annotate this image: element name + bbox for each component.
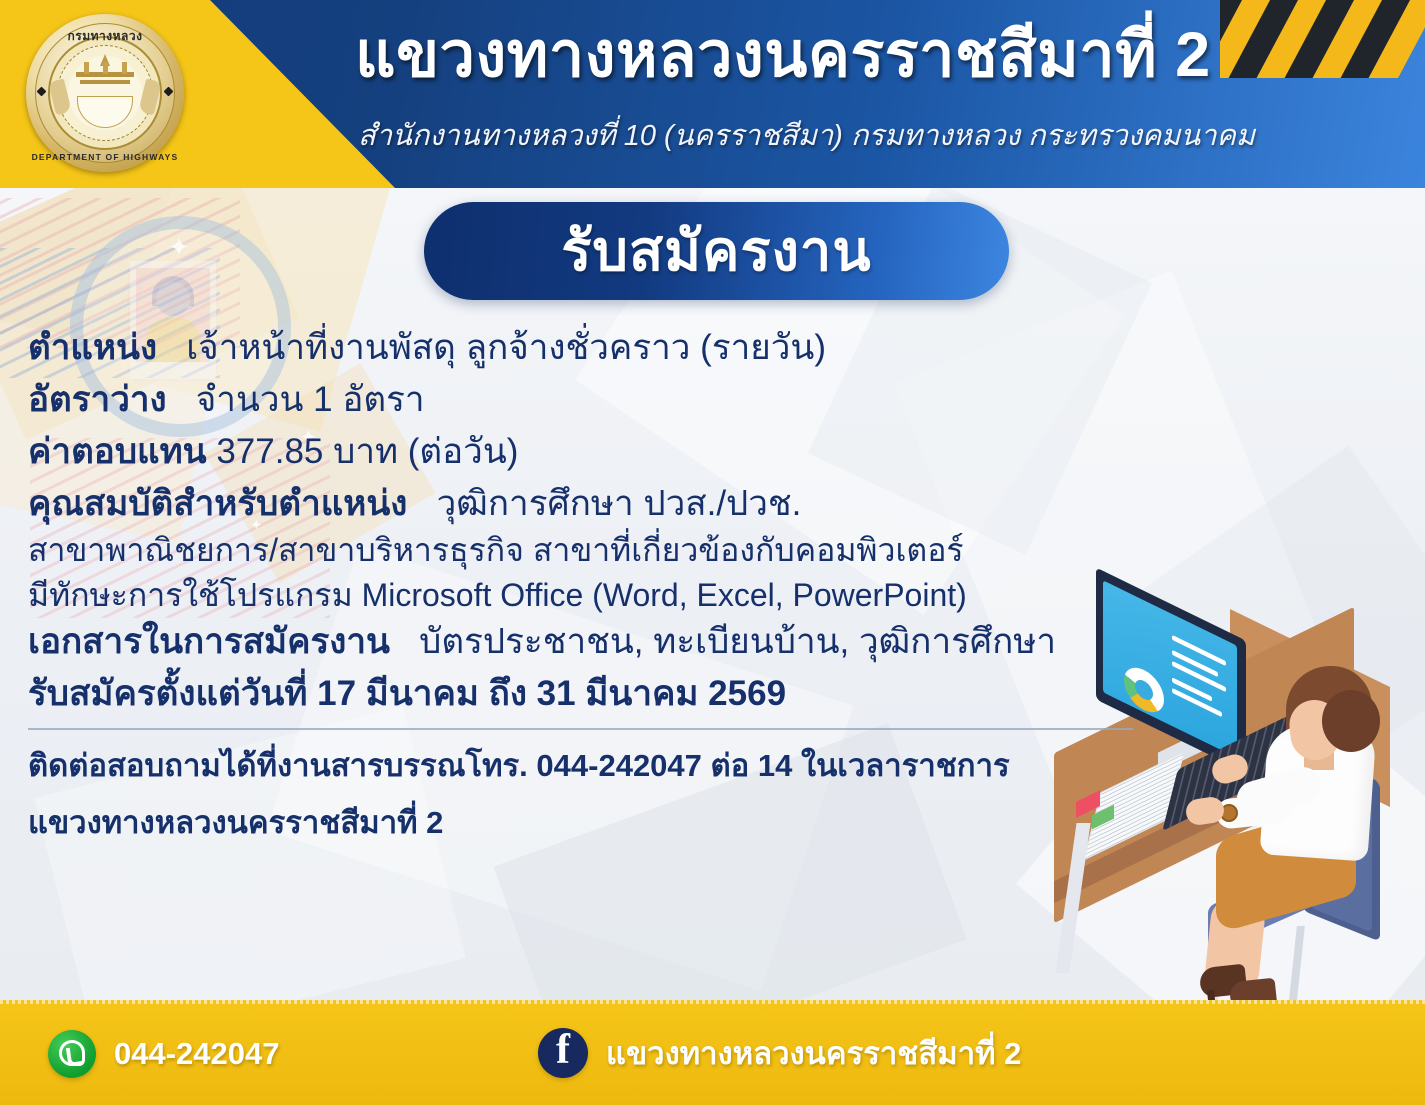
documents-value: บัตรประชาชน, ทะเบียนบ้าน, วุฒิการศึกษา bbox=[419, 622, 1056, 661]
qualification-line: คุณสมบัติสำหรับตำแหน่ง วุฒิการศึกษา ปวส.… bbox=[28, 486, 1188, 521]
salary-value: 377.85 บาท (ต่อวัน) bbox=[216, 432, 518, 471]
contact-line-2: แขวงทางหลวงนครราชสีมาที่ 2 bbox=[28, 807, 1188, 838]
organization-title: แขวงทางหลวงนครราชสีมาที่ 2 bbox=[355, 22, 1315, 88]
contact-line-1: ติดต่อสอบถามได้ที่งานสารบรรณโทร. 044-242… bbox=[28, 750, 1188, 781]
section-divider bbox=[28, 728, 1133, 730]
recruitment-title-text: รับสมัครงาน bbox=[561, 223, 871, 279]
salary-line: ค่าตอบแทน 377.85 บาท (ต่อวัน) bbox=[28, 434, 1188, 469]
emblem-bottom-text: DEPARTMENT OF HIGHWAYS bbox=[26, 152, 184, 162]
qualification-value: วุฒิการศึกษา ปวส./ปวช. bbox=[437, 484, 802, 523]
salary-label: ค่าตอบแทน bbox=[28, 432, 207, 471]
poster-header: กรมทางหลวง DEPARTMENT OF HIGHWAYS แขวงทา… bbox=[0, 0, 1425, 188]
documents-line: เอกสารในการสมัครงาน บัตรประชาชน, ทะเบียน… bbox=[28, 624, 1188, 659]
vacancy-line: อัตราว่าง จำนวน 1 อัตรา bbox=[28, 382, 1188, 417]
documents-label: เอกสารในการสมัครงาน bbox=[28, 622, 390, 661]
footer-facebook-name: แขวงทางหลวงนครราชสีมาที่ 2 bbox=[606, 1028, 1021, 1078]
facebook-icon bbox=[538, 1028, 588, 1078]
footer-phone-item[interactable]: 044-242047 bbox=[48, 1030, 280, 1078]
position-line: ตำแหน่ง เจ้าหน้าที่งานพัสดุ ลูกจ้างชั่วค… bbox=[28, 330, 1188, 365]
footer-dotted-edge bbox=[0, 1000, 1425, 1004]
job-details-block: ตำแหน่ง เจ้าหน้าที่งานพัสดุ ลูกจ้างชั่วค… bbox=[28, 330, 1188, 864]
position-value: เจ้าหน้าที่งานพัสดุ ลูกจ้างชั่วคราว (ราย… bbox=[186, 328, 826, 367]
vacancy-label: อัตราว่าง bbox=[28, 380, 167, 419]
poster-footer: 044-242047 แขวงทางหลวงนครราชสีมาที่ 2 15… bbox=[0, 1000, 1425, 1105]
qualification-label: คุณสมบัติสำหรับตำแหน่ง bbox=[28, 484, 407, 523]
sparkle-icon: ✦ bbox=[168, 234, 190, 260]
application-period-line: รับสมัครตั้งแต่วันที่ 17 มีนาคม ถึง 31 ม… bbox=[28, 676, 1188, 711]
position-label: ตำแหน่ง bbox=[28, 328, 157, 367]
organization-subtitle: สำนักงานทางหลวงที่ 10 (นครราชสีมา) กรมทา… bbox=[358, 112, 1338, 158]
qualification-line-3: มีทักษะการใช้โปรแกรม Microsoft Office (W… bbox=[28, 579, 1188, 611]
emblem-top-text: กรมทางหลวง bbox=[26, 27, 184, 46]
poster-body: ✦ ✦ ✦ ✦ bbox=[0, 188, 1425, 1000]
footer-facebook-item[interactable]: แขวงทางหลวงนครราชสีมาที่ 2 bbox=[538, 1028, 1021, 1078]
footer-phone-number: 044-242047 bbox=[114, 1036, 280, 1072]
department-of-highways-emblem-icon: กรมทางหลวง DEPARTMENT OF HIGHWAYS bbox=[26, 14, 184, 172]
qualification-line-2: สาขาพาณิชยการ/สาขาบริหารธุรกิจ สาขาที่เก… bbox=[28, 534, 1188, 566]
recruitment-title-badge: รับสมัครงาน bbox=[424, 202, 1009, 300]
phone-icon bbox=[48, 1030, 96, 1078]
vacancy-value: จำนวน 1 อัตรา bbox=[196, 380, 425, 419]
job-announcement-poster: กรมทางหลวง DEPARTMENT OF HIGHWAYS แขวงทา… bbox=[0, 0, 1425, 1105]
